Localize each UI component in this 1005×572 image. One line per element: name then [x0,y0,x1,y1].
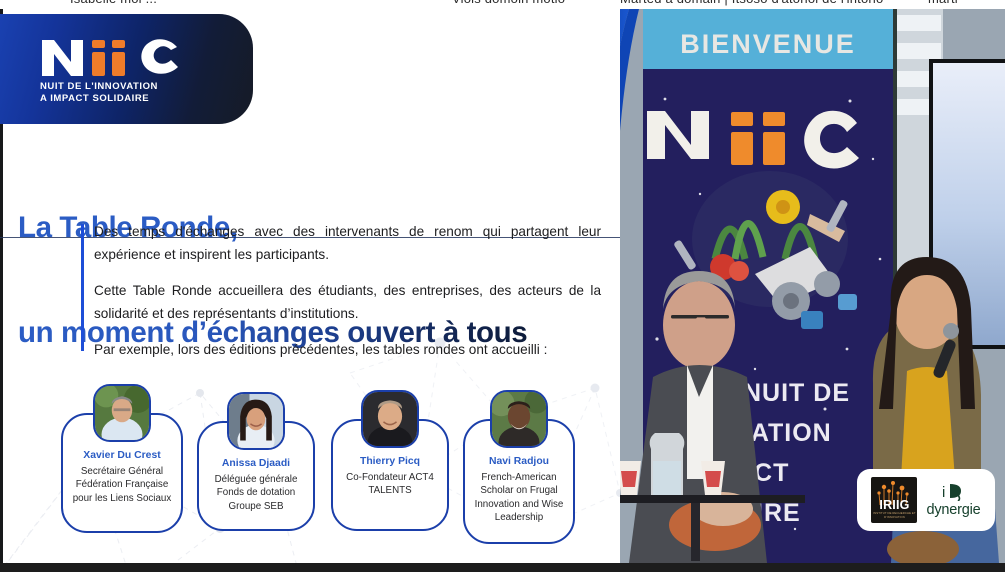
body-paragraph-2: Cette Table Ronde accueillera des étudia… [94,279,601,325]
niis-logo-inner: NUIT DE L'INNOVATION A IMPACT SOLIDAIRE [40,34,185,105]
speaker-name: Xavier Du Crest [63,449,181,462]
video-call-participant-strip: Isabelle mol ... Viois domoin motio Mart… [0,0,1005,9]
participant-name: Isabelle mol ... [70,0,157,6]
body-paragraph-3: Par exemple, lors des éditions précédent… [94,338,601,361]
avatar [361,390,419,448]
speaker-card-list: Xavier Du Crest Secrétaire Général Fédér… [50,395,590,545]
dynergie-label: dynergie [926,502,980,518]
slide-body: Des temps d'échanges avec des intervenan… [81,220,601,361]
avatar [490,390,548,448]
niis-subtitle-line1: NUIT DE L'INNOVATION [40,81,185,93]
speaker-name: Navi Radjou [465,455,573,468]
panel-discussion-photo: BIENVENUE [595,9,1005,563]
speaker-role: Co-Fondateur ACT4 TALENTS [333,471,447,498]
portrait-anissa-djaadi [229,394,283,448]
speaker-card: Anissa Djaadi Déléguée générale Fonds de… [197,421,315,531]
niis-wordmark-icon [40,34,185,78]
body-accent-bar [81,224,84,351]
screenshot-root: Isabelle mol ... Viois domoin motio Mart… [0,0,1005,572]
speaker-card: Xavier Du Crest Secrétaire Général Fédér… [61,413,183,533]
speaker-role: Secrétaire Général Fédération Française … [63,465,181,505]
participant-name: Marted a domain | Itsoso d'atoriol de l'… [620,0,883,6]
speaker-name: Anissa Djaadi [199,457,313,470]
portrait-navi-radjou [492,392,546,446]
dynergie-logo: i dynergie [926,482,980,518]
participant-name: Viois domoin motio [452,0,565,6]
niis-subtitle-line2: A IMPACT SOLIDAIRE [40,93,185,105]
body-paragraph-1: Des temps d'échanges avec des intervenan… [94,220,601,266]
portrait-xavier-du-crest [95,386,149,440]
niis-subtitle: NUIT DE L'INNOVATION A IMPACT SOLIDAIRE [40,81,185,105]
participant-name: marti [928,0,958,6]
speaker-card: Navi Radjou French-American Scholar on F… [463,419,575,544]
portrait-thierry-picq [363,392,417,446]
svg-text:i: i [942,484,945,501]
window-bottom-bar [0,563,1005,572]
niis-logo-badge: NUIT DE L'INNOVATION A IMPACT SOLIDAIRE [0,14,253,124]
presentation-slide: NUIT DE L'INNOVATION A IMPACT SOLIDAIRE … [0,9,620,563]
svg-text:BIENVENUE: BIENVENUE [680,29,856,59]
speaker-role: French-American Scholar on Frugal Innova… [465,471,573,525]
iriig-label: IRIIG [871,498,917,512]
iriig-logo-icon: IRIIG INSTITUT DE RECHERCHE ET D'INNOVAT… [871,477,917,523]
avatar [227,392,285,450]
dynergie-mark-icon: i [941,482,967,501]
iriig-sublabel: INSTITUT DE RECHERCHE ET D'INNOVATION [871,511,917,519]
avatar [93,384,151,442]
speaker-name: Thierry Picq [333,455,447,468]
speaker-card: Thierry Picq Co-Fondateur ACT4 TALENTS [331,419,449,531]
speaker-role: Déléguée générale Fonds de dotation Grou… [199,473,313,513]
sponsor-logo-box: IRIIG INSTITUT DE RECHERCHE ET D'INNOVAT… [857,469,995,531]
svg-text:NUIT DE: NUIT DE [743,379,850,407]
